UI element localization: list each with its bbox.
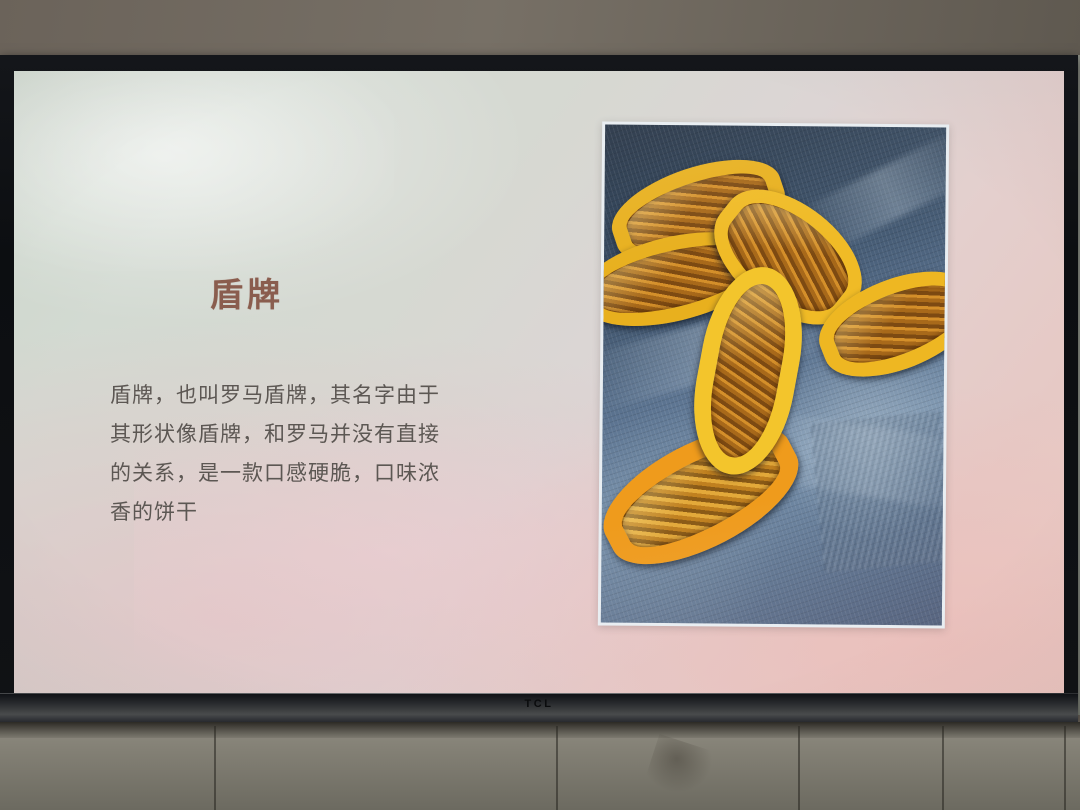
fabric-fringe: [810, 411, 946, 573]
screen-glare-upper-left: [14, 71, 394, 271]
wall-above-display: [0, 0, 1080, 60]
wall-panel-seam: [214, 726, 216, 810]
wall-panel-seam: [798, 726, 800, 810]
photo-of-classroom-display: 盾牌 盾牌，也叫罗马盾牌，其名字由于 其形状像盾牌，和罗马并没有直接 的关系，是…: [0, 0, 1080, 810]
slide-body-text: 盾牌，也叫罗马盾牌，其名字由于 其形状像盾牌，和罗马并没有直接 的关系，是一款口…: [110, 376, 500, 532]
wall-panel-seam: [556, 726, 558, 810]
brand-logo: TCL: [0, 698, 1078, 710]
slide-body-line: 香的饼干: [110, 493, 500, 532]
slide-body-line: 盾牌，也叫罗马盾牌，其名字由于: [110, 376, 500, 415]
slide-photo-frame: [598, 121, 949, 628]
slide-body-line: 的关系，是一款口感硬脆，口味浓: [110, 454, 500, 493]
wall-panel-seam: [942, 726, 944, 810]
slide-photo-pastries: [601, 125, 946, 626]
slide-title: 盾牌: [210, 268, 284, 316]
slide-body-line: 其形状像盾牌，和罗马并没有直接: [110, 415, 500, 454]
wall-panel-seam: [1064, 726, 1066, 810]
presentation-slide: 盾牌 盾牌，也叫罗马盾牌，其名字由于 其形状像盾牌，和罗马并没有直接 的关系，是…: [14, 71, 1064, 693]
wall-shadow-under-display: [0, 722, 1080, 738]
